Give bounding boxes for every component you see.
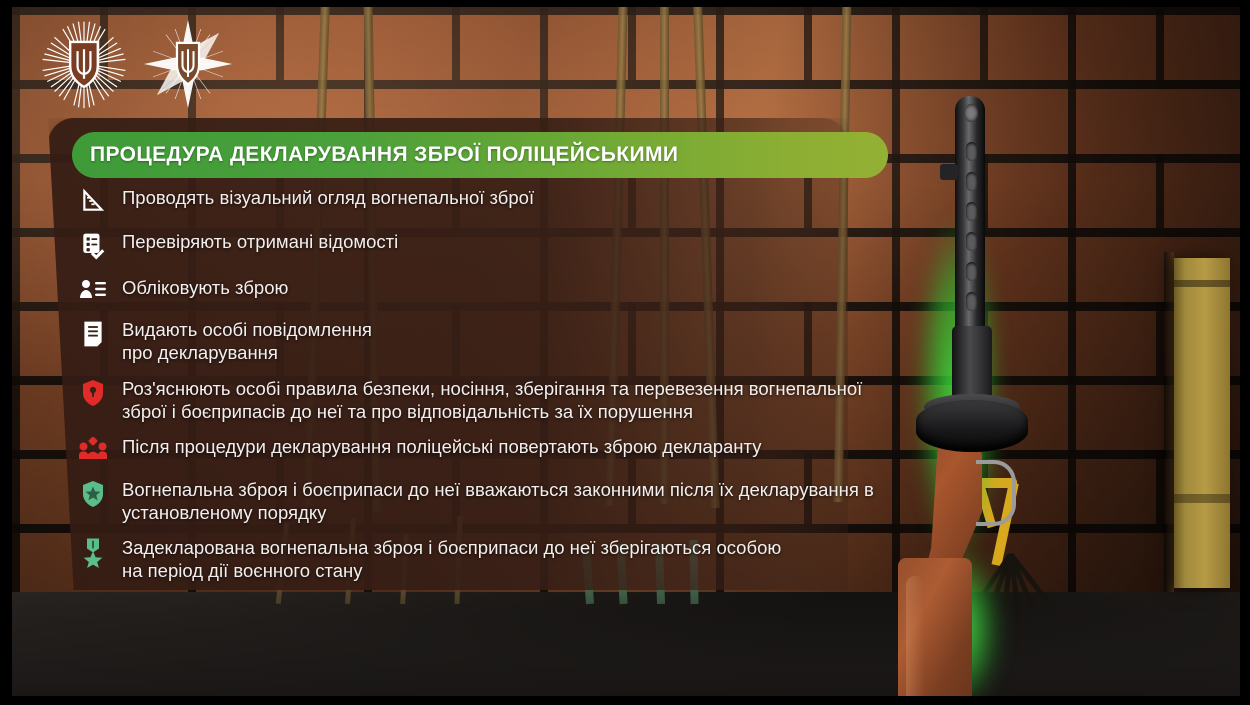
letterbox-right	[1240, 0, 1250, 705]
list-item: Видають особі повідомлення про декларува…	[76, 318, 896, 364]
front-sight	[940, 164, 958, 180]
emblem-group	[38, 18, 238, 114]
list-item-text: Задекларована вогнепальна зброя і боєпри…	[122, 536, 781, 582]
list-item: Проводять візуальний огляд вогнепальної …	[76, 186, 896, 216]
checklist-document-icon	[76, 230, 110, 260]
shield-star-icon	[76, 478, 110, 508]
vent-slot	[966, 232, 977, 251]
ministry-of-internal-affairs-emblem	[142, 18, 234, 110]
firearm-ppsh41	[880, 88, 1040, 688]
vent-slot	[966, 262, 977, 281]
drum-magazine	[916, 400, 1028, 452]
list-item: Обліковують зброю	[76, 276, 896, 306]
wooden-door	[1174, 258, 1230, 588]
list-item-text: Видають особі повідомлення про декларува…	[122, 318, 372, 364]
list-item-text: Роз'яснюють особі правила безпеки, носін…	[122, 377, 896, 423]
vent-slot	[966, 202, 977, 221]
list-item: Перевіряють отримані відомості	[76, 230, 896, 260]
list-item-text: Після процедури декларування поліцейські…	[122, 435, 761, 458]
person-record-icon	[76, 276, 110, 306]
letterbox-left	[0, 0, 12, 705]
letterbox-bottom	[0, 696, 1250, 705]
list-item: Вогнепальна зброя і боєприпаси до неї вв…	[76, 478, 896, 524]
shield-lock-icon	[76, 377, 110, 407]
door-frame-edge	[1164, 252, 1174, 592]
list-item-text: Проводять візуальний огляд вогнепальної …	[122, 186, 534, 209]
list-item: Роз'яснюють особі правила безпеки, носін…	[76, 377, 896, 423]
letterbox-top	[0, 0, 1250, 7]
ruler-triangle-icon	[76, 186, 110, 216]
page-title: ПРОЦЕДУРА ДЕКЛАРУВАННЯ ЗБРОЇ ПОЛІЦЕЙСЬКИ…	[72, 143, 678, 167]
procedure-list: Проводять візуальний огляд вогнепальної …	[76, 186, 896, 593]
panel-title-bar: ПРОЦЕДУРА ДЕКЛАРУВАННЯ ЗБРОЇ ПОЛІЦЕЙСЬКИ…	[72, 132, 888, 178]
list-item-text: Вогнепальна зброя і боєприпаси до неї вв…	[122, 478, 896, 524]
slide-stage: ПРОЦЕДУРА ДЕКЛАРУВАННЯ ЗБРОЇ ПОЛІЦЕЙСЬКИ…	[0, 0, 1250, 705]
list-item: Задекларована вогнепальна зброя і боєпри…	[76, 536, 896, 582]
national-police-of-ukraine-emblem	[38, 18, 130, 110]
sling-loop	[976, 460, 1016, 526]
list-item-text: Обліковують зброю	[122, 276, 288, 299]
vent-slot	[966, 292, 977, 311]
muzzle-hole	[964, 104, 978, 122]
stock-highlight	[906, 576, 924, 705]
list-item: Після процедури декларування поліцейські…	[76, 435, 896, 465]
group-people-icon	[76, 435, 110, 465]
list-item-text: Перевіряють отримані відомості	[122, 230, 398, 253]
vent-slot	[966, 142, 977, 161]
document-icon	[76, 318, 110, 348]
medal-icon	[76, 536, 110, 566]
vent-slot	[966, 172, 977, 191]
floor-shadow	[12, 592, 1240, 696]
